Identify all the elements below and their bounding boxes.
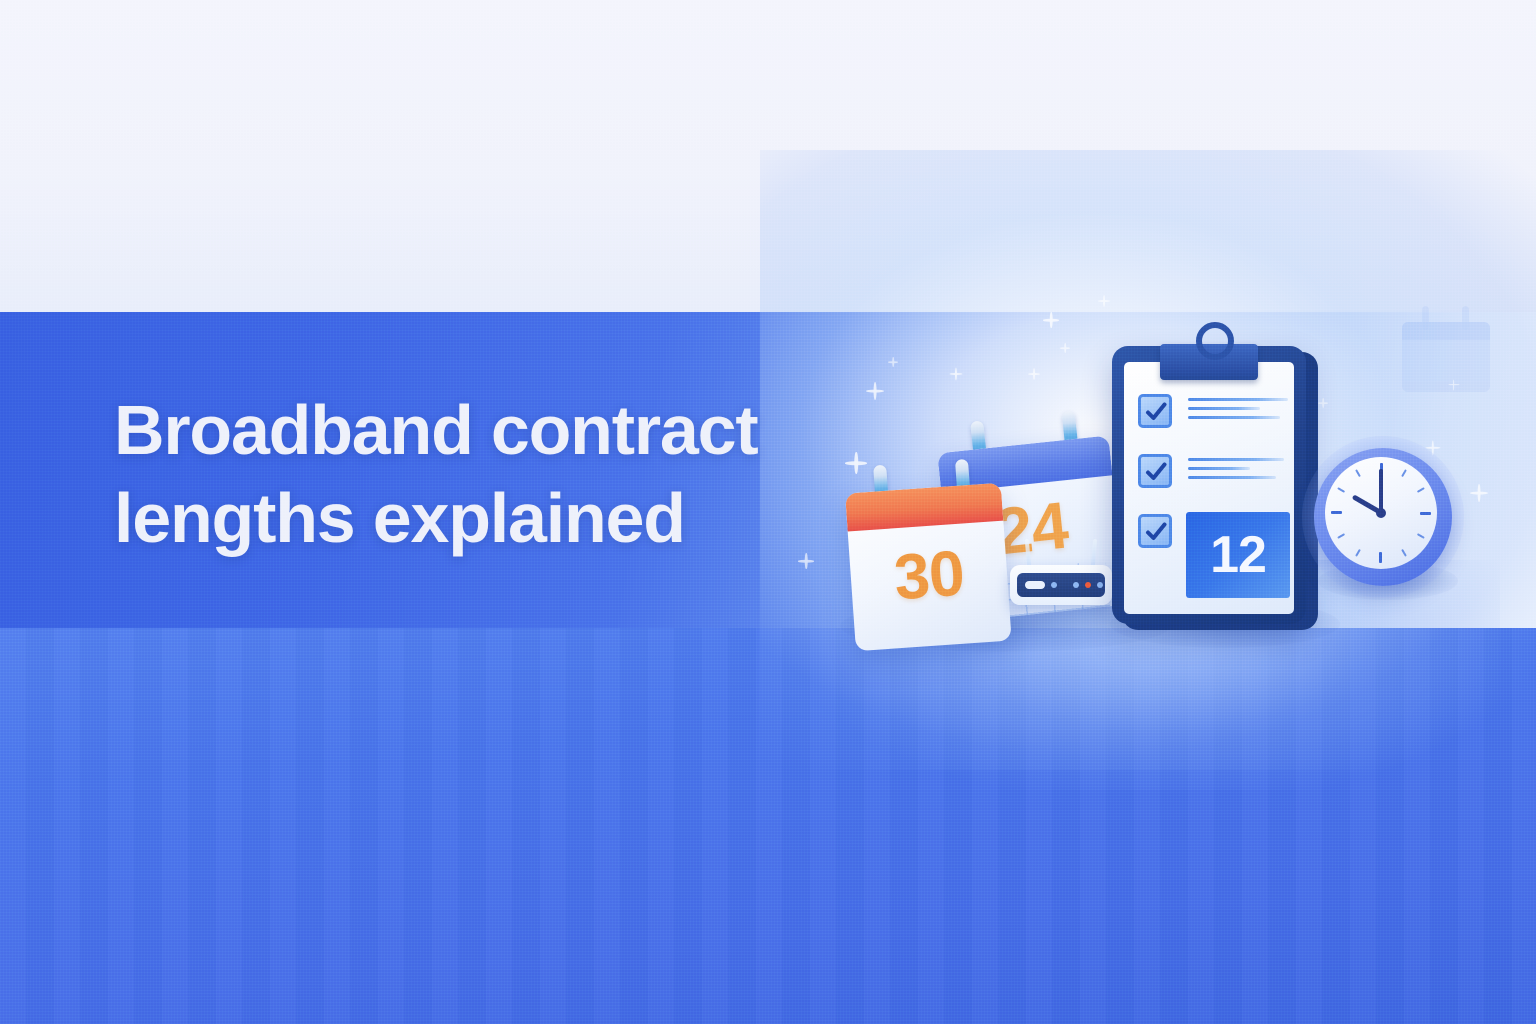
- checkbox-checked-icon: [1138, 454, 1172, 488]
- banner-hero: Broadband contract lengths explained 24 …: [0, 0, 1536, 1024]
- calendar-30: 30: [844, 473, 1011, 651]
- calendar-30-number: 30: [849, 533, 1010, 618]
- checkbox-checked-icon: [1138, 394, 1172, 428]
- page-title: Broadband contract lengths explained: [114, 386, 774, 562]
- background-top-panel: [0, 0, 1536, 312]
- clipboard-ring: [1196, 322, 1234, 360]
- checklist-item: [1138, 454, 1288, 500]
- page-title-line-1: Broadband contract: [114, 386, 774, 474]
- calendar-30-header: [845, 483, 1003, 532]
- contract-months-badge: 12: [1186, 512, 1290, 598]
- router-icon: [1010, 565, 1112, 605]
- checkbox-checked-icon: [1138, 514, 1172, 548]
- checklist-item-lines: [1188, 458, 1288, 485]
- page-title-line-2: lengths explained: [114, 474, 774, 562]
- checklist-item: [1138, 394, 1288, 440]
- clock-center-pin: [1376, 508, 1386, 518]
- clock-face: [1325, 457, 1437, 569]
- clipboard-checklist: 12: [1112, 342, 1318, 630]
- hero-illustration: 24 30: [820, 300, 1510, 690]
- checklist-item-lines: [1188, 398, 1288, 425]
- clock-minute-hand: [1379, 469, 1383, 513]
- router-status-led: [1085, 582, 1091, 588]
- analog-clock: [1314, 448, 1452, 586]
